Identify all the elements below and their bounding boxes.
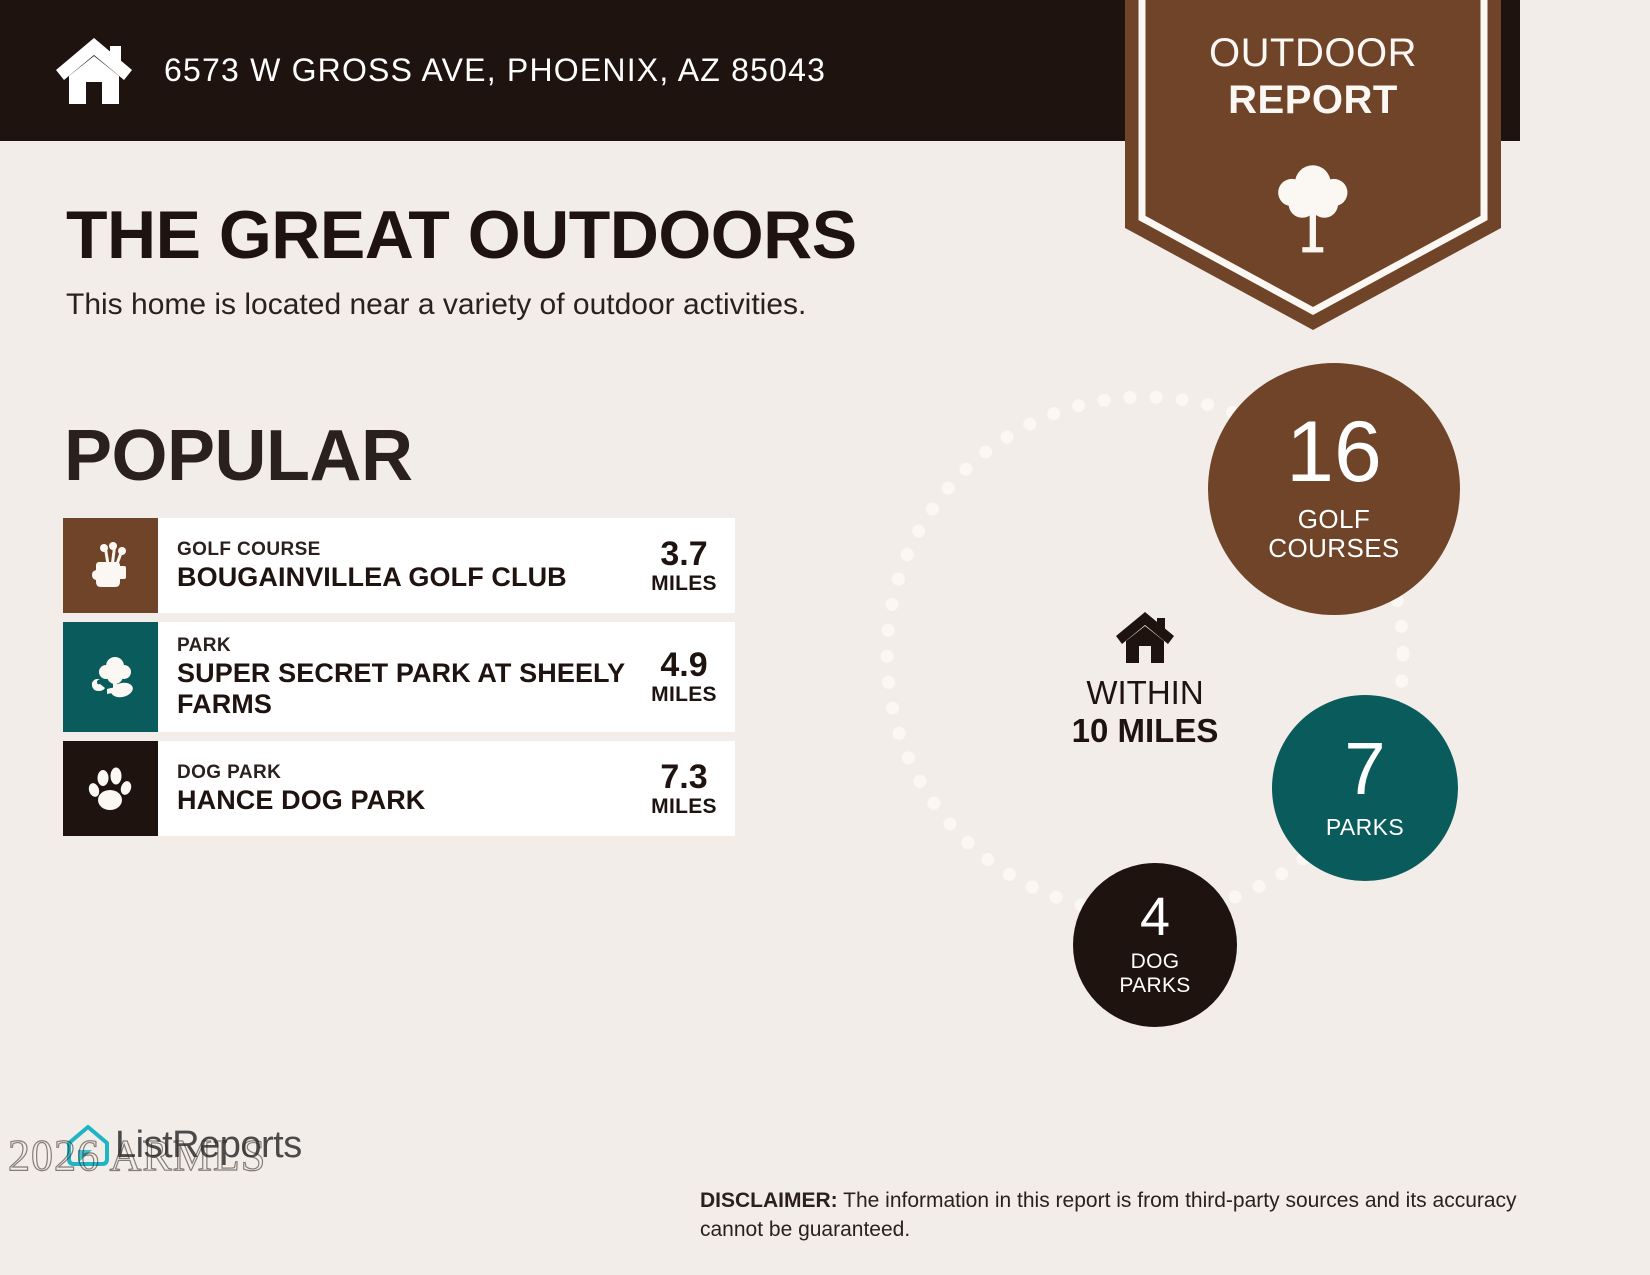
armls-watermark: 2026 ARMLS: [8, 1130, 266, 1181]
badge-text: OUTDOOR REPORT: [1125, 30, 1501, 124]
list-item-text: DOG PARK HANCE DOG PARK: [158, 741, 639, 836]
golf-courses-count-bubble: 16 GOLF COURSES: [1208, 363, 1460, 615]
page-subtitle: This home is located near a variety of o…: [66, 288, 806, 322]
within-radius-label: WITHIN 10 MILES: [1045, 610, 1245, 750]
golf-bag-icon: [85, 540, 137, 592]
list-item[interactable]: DOG PARK HANCE DOG PARK 7.3 MILES: [63, 741, 735, 836]
distance-value: 4.9: [660, 647, 707, 683]
distance-value: 7.3: [660, 759, 707, 795]
list-item-text: GOLF COURSE BOUGAINVILLEA GOLF CLUB: [158, 518, 639, 613]
popular-heading: POPULAR: [64, 415, 413, 497]
parks-count-bubble: 7 PARKS: [1272, 695, 1458, 881]
park-tree-icon: [85, 651, 137, 703]
dog-parks-label-line2: PARKS: [1119, 974, 1190, 998]
list-item-name: SUPER SECRET PARK AT SHEELY FARMS: [177, 657, 639, 720]
list-item-text: PARK SUPER SECRET PARK AT SHEELY FARMS: [158, 622, 639, 732]
home-icon: [1045, 610, 1245, 666]
distance-unit: MILES: [651, 572, 717, 596]
list-item-name: HANCE DOG PARK: [177, 784, 639, 816]
list-item-category: GOLF COURSE: [177, 538, 639, 561]
list-item-distance: 4.9 MILES: [639, 622, 735, 732]
badge-line-2: REPORT: [1125, 77, 1501, 124]
disclaimer: DISCLAIMER: The information in this repo…: [700, 1186, 1530, 1244]
property-address: 6573 W GROSS AVE, PHOENIX, AZ 85043: [164, 52, 826, 89]
parks-count: 7: [1344, 732, 1385, 806]
dog-parks-label: DOG PARKS: [1119, 950, 1190, 998]
list-item[interactable]: GOLF COURSE BOUGAINVILLEA GOLF CLUB 3.7 …: [63, 518, 735, 613]
within-line-1: WITHIN: [1045, 674, 1245, 712]
golf-courses-label-line1: GOLF: [1268, 505, 1399, 534]
list-item-category: DOG PARK: [177, 761, 639, 784]
page-title: THE GREAT OUTDOORS: [66, 196, 857, 274]
parks-label: PARKS: [1326, 814, 1404, 841]
golf-course-tile: [63, 518, 158, 613]
dog-park-tile: [63, 741, 158, 836]
golf-courses-label: GOLF COURSES: [1268, 505, 1399, 563]
paw-print-icon: [85, 763, 137, 815]
outdoor-counts-infographic: WITHIN 10 MILES 16 GOLF COURSES 7 PARKS …: [840, 355, 1520, 1055]
dog-parks-count-bubble: 4 DOG PARKS: [1073, 863, 1237, 1027]
distance-unit: MILES: [651, 795, 717, 819]
within-line-2: 10 MILES: [1045, 712, 1245, 750]
list-item-name: BOUGAINVILLEA GOLF CLUB: [177, 561, 639, 593]
badge-line-1: OUTDOOR: [1125, 30, 1501, 77]
popular-list: GOLF COURSE BOUGAINVILLEA GOLF CLUB 3.7 …: [63, 518, 735, 845]
list-item-distance: 7.3 MILES: [639, 741, 735, 836]
dog-parks-count: 4: [1140, 890, 1170, 944]
distance-value: 3.7: [660, 536, 707, 572]
golf-courses-label-line2: COURSES: [1268, 534, 1399, 563]
list-item-distance: 3.7 MILES: [639, 518, 735, 613]
list-item-category: PARK: [177, 634, 639, 657]
distance-unit: MILES: [651, 683, 717, 707]
disclaimer-label: DISCLAIMER:: [700, 1189, 838, 1212]
park-tile: [63, 622, 158, 732]
outdoor-report-badge: OUTDOOR REPORT: [1125, 0, 1501, 330]
dog-parks-label-line1: DOG: [1119, 950, 1190, 974]
list-item[interactable]: PARK SUPER SECRET PARK AT SHEELY FARMS 4…: [63, 622, 735, 732]
golf-courses-count: 16: [1286, 409, 1382, 495]
home-icon: [52, 34, 136, 108]
